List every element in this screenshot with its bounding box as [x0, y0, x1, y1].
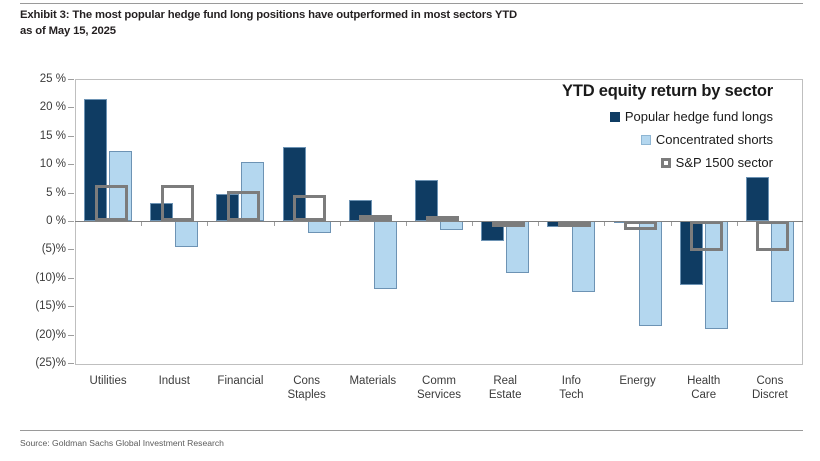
bar-spx-sector [624, 221, 657, 230]
x-axis-label: InfoTech [538, 374, 604, 402]
x-axis-label-line: Materials [340, 374, 406, 388]
y-axis-tick-mark [68, 107, 74, 108]
y-axis-tick-label: (15)% [35, 300, 66, 312]
bar-spx-sector [690, 221, 723, 251]
x-axis-label-line: Comm [406, 374, 472, 388]
x-axis-label-line: Cons [737, 374, 803, 388]
legend-item-concentrated-shorts: Concentrated shorts [497, 132, 787, 147]
x-axis-label: Indust [141, 374, 207, 388]
zero-baseline [75, 221, 803, 222]
y-axis-tick-label: (20)% [35, 329, 66, 341]
bar-concentrated-shorts [572, 221, 595, 292]
x-axis-label-line: Discret [737, 388, 803, 402]
top-divider [20, 3, 803, 4]
y-axis-tick-label: 20 % [40, 101, 66, 113]
bottom-divider [20, 430, 803, 431]
y-axis: 25 %20 %15 %10 %5 %0 %(5)%(10)%(15)%(20)… [0, 0, 66, 461]
page-title: Exhibit 3: The most popular hedge fund l… [20, 9, 517, 21]
legend-title: YTD equity return by sector [497, 79, 787, 101]
y-axis-tick-mark [68, 164, 74, 165]
y-axis-tick-mark [68, 278, 74, 279]
y-axis-tick-mark [68, 221, 74, 222]
bar-concentrated-shorts [175, 221, 198, 247]
x-axis-label-line: Care [671, 388, 737, 402]
x-axis-label-line: Utilities [75, 374, 141, 388]
legend-swatch-icon [661, 158, 671, 168]
x-axis-label: ConsDiscret [737, 374, 803, 402]
x-axis-label: Energy [604, 374, 670, 388]
x-axis-label: ConsStaples [274, 374, 340, 402]
x-axis-label-line: Financial [207, 374, 273, 388]
legend-swatch-icon [641, 135, 651, 145]
y-axis-tick-label: 0 % [46, 215, 66, 227]
y-axis-tick-mark [68, 335, 74, 336]
x-axis-label-line: Tech [538, 388, 604, 402]
x-axis-label-line: Indust [141, 374, 207, 388]
legend-item-spx-sector: S&P 1500 sector [497, 155, 787, 170]
chart-page: Exhibit 3: The most popular hedge fund l… [0, 0, 820, 461]
bar-hedge-fund-longs [746, 177, 769, 221]
y-axis-tick-label: 5 % [46, 187, 66, 199]
bar-spx-sector [227, 191, 260, 221]
x-axis-label-line: Health [671, 374, 737, 388]
x-axis-label: CommServices [406, 374, 472, 402]
legend-item-label: S&P 1500 sector [676, 155, 773, 170]
source-note: Source: Goldman Sachs Global Investment … [20, 438, 224, 448]
bar-concentrated-shorts [506, 221, 529, 273]
x-axis-label: RealEstate [472, 374, 538, 402]
x-axis-label-line: Estate [472, 388, 538, 402]
y-axis-tick-mark [68, 363, 74, 364]
legend-swatch-icon [610, 112, 620, 122]
x-axis-label-line: Cons [274, 374, 340, 388]
x-axis-label-line: Real [472, 374, 538, 388]
x-axis-label: Utilities [75, 374, 141, 388]
bar-spx-sector [756, 221, 789, 251]
bar-hedge-fund-longs [415, 180, 438, 221]
y-axis-tick-label: (25)% [35, 357, 66, 369]
x-axis-label-line: Staples [274, 388, 340, 402]
x-axis-label: Financial [207, 374, 273, 388]
y-axis-tick-mark [68, 193, 74, 194]
y-axis-tick-mark [68, 306, 74, 307]
legend: YTD equity return by sector Popular hedg… [497, 79, 787, 170]
bar-concentrated-shorts [374, 221, 397, 289]
x-axis-label-line: Services [406, 388, 472, 402]
bar-spx-sector [293, 195, 326, 221]
y-axis-tick-label: (10)% [35, 272, 66, 284]
y-axis-tick-label: 10 % [40, 158, 66, 170]
legend-item-label: Popular hedge fund longs [625, 109, 773, 124]
y-axis-tick-label: 15 % [40, 130, 66, 142]
x-axis-label-line: Info [538, 374, 604, 388]
y-axis-tick-mark [68, 136, 74, 137]
legend-item-hedge-fund-longs: Popular hedge fund longs [497, 109, 787, 124]
bar-concentrated-shorts [639, 221, 662, 326]
x-axis-label-line: Energy [604, 374, 670, 388]
x-axis-label: Materials [340, 374, 406, 388]
bar-concentrated-shorts [308, 221, 331, 233]
bar-spx-sector [95, 185, 128, 221]
y-axis-tick-label: 25 % [40, 73, 66, 85]
legend-item-label: Concentrated shorts [656, 132, 773, 147]
x-axis-label: HealthCare [671, 374, 737, 402]
bar-spx-sector [161, 185, 194, 221]
y-axis-tick-label: (5)% [42, 243, 66, 255]
y-axis-tick-mark [68, 79, 74, 80]
y-axis-tick-mark [68, 249, 74, 250]
